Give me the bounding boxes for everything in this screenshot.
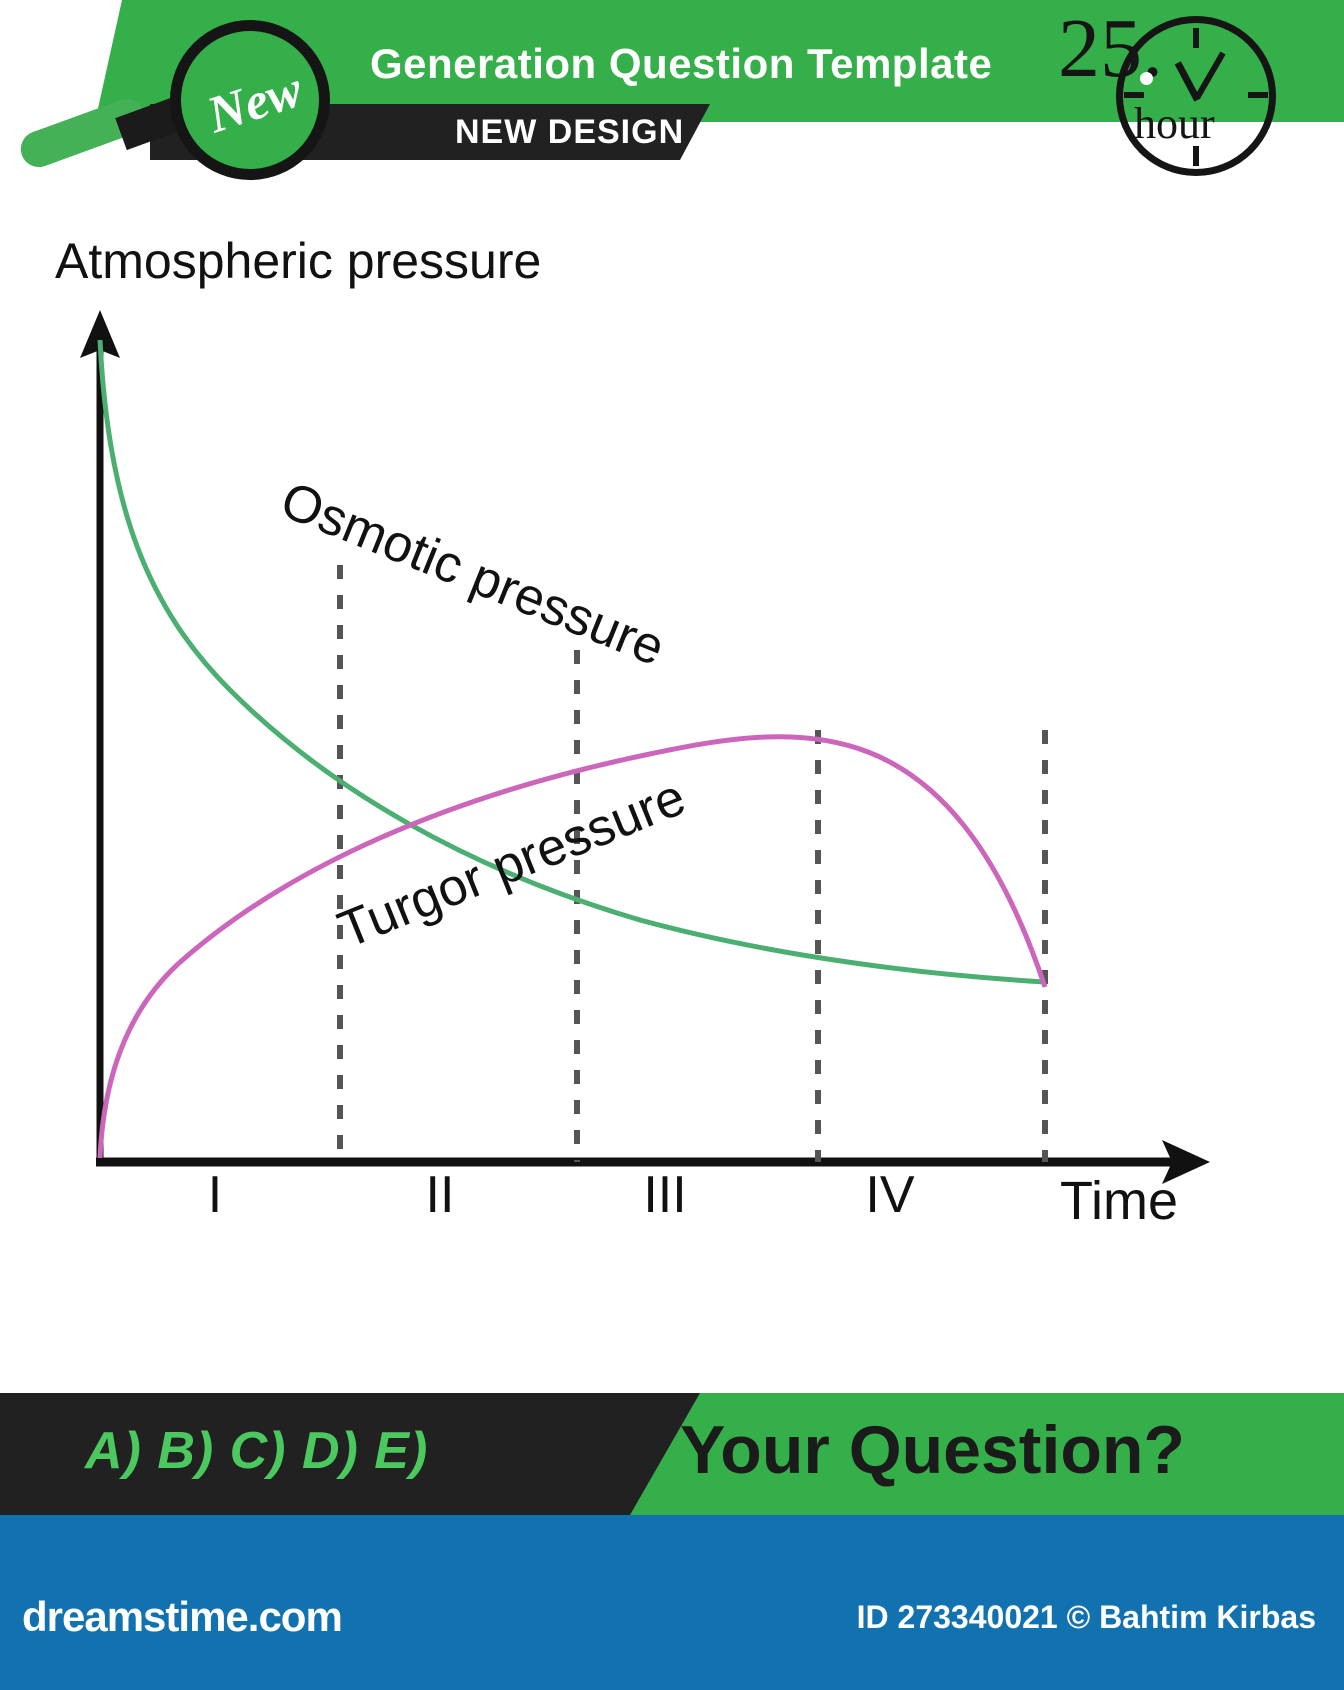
x-tick-label-1: I bbox=[175, 1165, 255, 1225]
x-tick-label-3: III bbox=[625, 1165, 705, 1225]
dreamstime-logo: dreamstime.com bbox=[22, 1593, 342, 1641]
x-tick-label-2: II bbox=[400, 1165, 480, 1225]
header-banner: New Generation Question Template NEW DES… bbox=[0, 0, 1344, 200]
answer-choices-label: A) B) C) D) E) bbox=[85, 1421, 428, 1481]
x-axis-title: Time bbox=[1060, 1170, 1178, 1232]
chart-canvas bbox=[0, 210, 1344, 1300]
header-title: Generation Question Template bbox=[370, 40, 992, 88]
clock-unit-label: hour bbox=[1134, 98, 1215, 149]
clock-icon: 25. hour bbox=[1098, 6, 1288, 184]
footer-bar: dreamstime.com ID 273340021 © Bahtim Kir… bbox=[0, 1515, 1344, 1690]
x-tick-label-4: IV bbox=[850, 1165, 930, 1225]
series-turgor-pressure bbox=[100, 737, 1045, 1158]
magnifier-icon: New bbox=[10, 20, 340, 190]
clock-tick-6 bbox=[1193, 146, 1199, 166]
image-credit: ID 273340021 © Bahtim Kirbas bbox=[857, 1599, 1316, 1636]
pressure-time-chart: Atmospheric pressure Osmotic pressure Tu… bbox=[0, 210, 1344, 1300]
clock-center-dot bbox=[1140, 72, 1153, 85]
series-osmotic-pressure bbox=[100, 340, 1045, 982]
your-question-label: Your Question? bbox=[680, 1411, 1185, 1489]
question-template-page: New Generation Question Template NEW DES… bbox=[0, 0, 1344, 1690]
clock-tick-3 bbox=[1248, 92, 1268, 98]
answer-banner: A) B) C) D) E) Your Question? bbox=[0, 1393, 1344, 1515]
clock-tick-12 bbox=[1193, 28, 1199, 48]
